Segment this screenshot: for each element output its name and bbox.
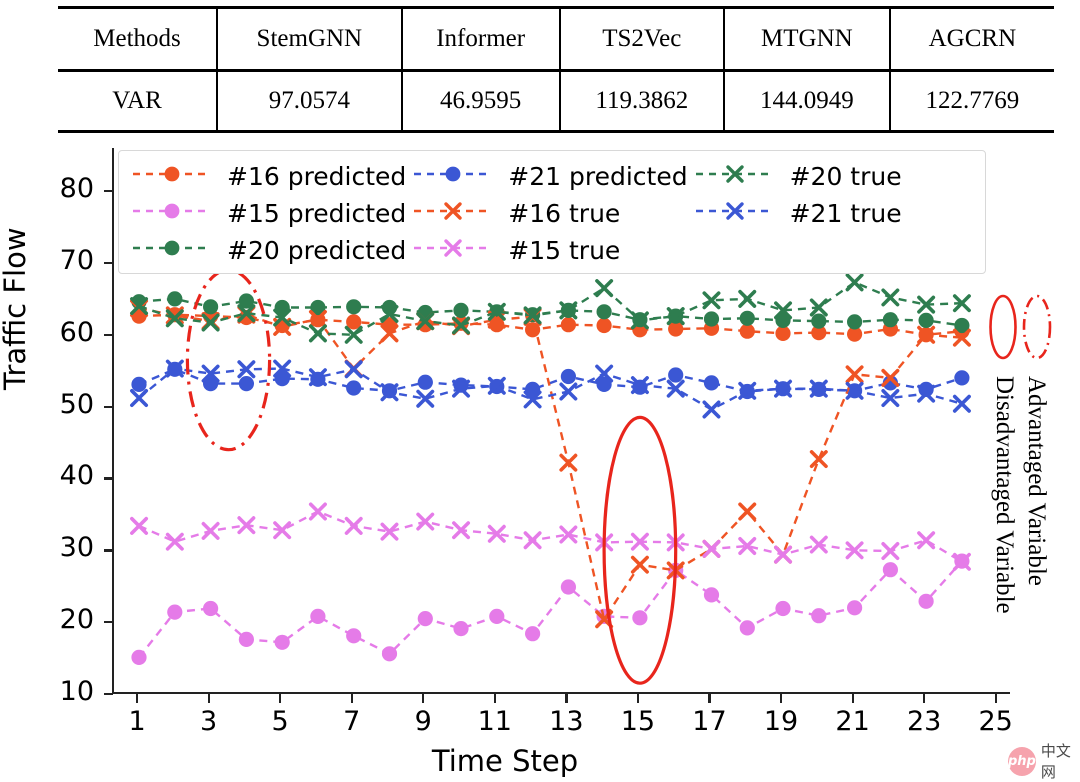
x-tick-mark <box>422 694 424 703</box>
data-point <box>954 370 969 385</box>
legend-key--20-predicted <box>127 232 217 269</box>
legend-empty <box>690 232 780 269</box>
legend-marker-icon <box>410 159 496 189</box>
data-point <box>418 514 432 528</box>
watermark: php 中文网 <box>1008 740 1080 782</box>
data-point <box>203 299 218 314</box>
legend-marker-icon <box>410 196 496 226</box>
data-point <box>704 542 718 556</box>
series--21-true <box>132 361 969 416</box>
x-tick-label: 5 <box>257 706 303 737</box>
data-point <box>346 628 361 643</box>
series-line <box>139 315 962 335</box>
series-line <box>139 308 962 619</box>
data-point <box>775 601 790 616</box>
data-point <box>847 600 862 615</box>
data-point <box>597 281 611 295</box>
data-point <box>239 632 254 647</box>
data-point <box>275 635 290 650</box>
data-point <box>453 303 468 318</box>
legend-label: #21 predicted <box>498 158 689 195</box>
x-tick-label: 15 <box>615 706 661 737</box>
series--20-true <box>132 275 969 342</box>
series--16-true <box>132 301 969 626</box>
x-tick-mark <box>852 694 854 703</box>
data-point <box>883 290 897 304</box>
data-point <box>310 609 325 624</box>
y-tick-label: 10 <box>24 676 94 707</box>
x-tick-label: 1 <box>114 706 160 737</box>
watermark-text: 中文网 <box>1041 740 1080 782</box>
php-logo-icon: php <box>1008 747 1036 776</box>
data-point <box>740 311 755 326</box>
x-tick-label: 11 <box>472 706 518 737</box>
table-cell: 144.0949 <box>724 71 890 132</box>
y-tick-label: 70 <box>24 245 94 276</box>
x-tick-label: 21 <box>830 706 876 737</box>
x-tick-mark <box>780 694 782 703</box>
data-point <box>131 650 146 665</box>
legend-marker-icon <box>692 159 778 189</box>
label-advantaged-variable: Advantaged Variable <box>1022 376 1050 586</box>
data-point <box>597 304 612 319</box>
data-point <box>740 620 755 635</box>
data-point <box>346 380 361 395</box>
highlight-ellipse-advantaged <box>187 270 269 450</box>
data-point <box>525 626 540 641</box>
legend-key--21-true <box>690 195 780 232</box>
legend-key--16-true <box>408 195 498 232</box>
data-point <box>704 587 719 602</box>
x-tick-label: 17 <box>686 706 732 737</box>
legend-label: #15 predicted <box>217 195 408 232</box>
legend-row: #16 predicted#21 predicted#20 true <box>127 158 904 195</box>
data-point <box>919 594 934 609</box>
table-header-cell: MTGNN <box>724 8 890 71</box>
table-header-cell: Informer <box>402 8 560 71</box>
data-point <box>382 646 397 661</box>
series-line <box>139 561 962 657</box>
data-point <box>561 579 576 594</box>
data-point <box>239 376 254 391</box>
series--16-predicted <box>131 307 969 342</box>
x-tick-mark <box>136 694 138 703</box>
x-tick-label: 23 <box>901 706 947 737</box>
series-line <box>139 512 962 562</box>
y-tick-label: 80 <box>24 173 94 204</box>
y-tick-label: 40 <box>24 460 94 491</box>
legend-marker-icon <box>410 233 496 263</box>
table-cell: 97.0574 <box>217 71 402 132</box>
data-point <box>847 275 861 289</box>
data-point <box>597 318 612 333</box>
data-point <box>132 519 146 533</box>
x-tick-label: 7 <box>329 706 375 737</box>
x-tick-mark <box>208 694 210 703</box>
data-point <box>955 397 969 411</box>
x-tick-mark <box>351 694 353 703</box>
x-tick-label: 13 <box>543 706 589 737</box>
legend: #16 predicted#21 predicted#20 true#15 pr… <box>118 150 986 274</box>
table-cell: 46.9595 <box>402 71 560 132</box>
data-point <box>704 311 719 326</box>
legend-row: #20 predicted#15 true <box>127 232 904 269</box>
x-tick-mark <box>923 694 925 703</box>
x-tick-label: 25 <box>973 706 1019 737</box>
data-point <box>919 313 934 328</box>
data-point <box>203 524 217 538</box>
series--15-predicted <box>131 554 969 666</box>
x-tick-label: 9 <box>400 706 446 737</box>
data-point <box>811 314 826 329</box>
data-point <box>561 455 575 469</box>
data-point <box>168 534 182 548</box>
table-header-cell: TS2Vec <box>560 8 724 71</box>
data-point <box>131 377 146 392</box>
table-header-cell: AGCRN <box>890 8 1054 71</box>
legend-key--21-predicted <box>408 158 498 195</box>
legend-label: #21 true <box>780 195 904 232</box>
legend-marker-icon <box>129 159 215 189</box>
legend-label: #16 true <box>498 195 689 232</box>
legend-label: #20 predicted <box>217 232 408 269</box>
legend-marker-icon <box>129 233 215 263</box>
data-point <box>311 326 325 340</box>
x-tick-mark <box>708 694 710 703</box>
legend-key--15-true <box>408 232 498 269</box>
y-tick-label: 60 <box>24 317 94 348</box>
data-point <box>883 544 897 558</box>
legend-key--20-true <box>690 158 780 195</box>
legend-label: #20 true <box>780 158 904 195</box>
data-point <box>632 610 647 625</box>
label-disadvantaged-variable: Disadvantaged Variable <box>990 376 1018 614</box>
legend-label: #15 true <box>498 232 689 269</box>
x-tick-label: 3 <box>186 706 232 737</box>
x-tick-mark <box>637 694 639 703</box>
legend-empty <box>780 232 904 269</box>
highlight-ellipse-disadvantaged <box>604 417 676 683</box>
legend-row: #15 predicted#16 true#21 true <box>127 195 904 232</box>
data-point <box>668 367 683 382</box>
data-point <box>561 317 576 332</box>
data-point <box>919 533 933 547</box>
data-point <box>740 292 754 306</box>
table-row: VAR97.057446.9595119.3862144.0949122.776… <box>58 71 1054 132</box>
legend-label: #16 predicted <box>217 158 408 195</box>
legend-key--16-predicted <box>127 158 217 195</box>
table-header-cell: StemGNN <box>217 8 402 71</box>
results-table: MethodsStemGNNInformerTS2VecMTGNNAGCRNVA… <box>58 6 1054 133</box>
x-tick-mark <box>279 694 281 703</box>
x-tick-mark <box>494 694 496 703</box>
y-tick-label: 30 <box>24 532 94 563</box>
data-point <box>704 402 718 416</box>
data-point <box>883 312 898 327</box>
data-point <box>525 533 539 547</box>
data-point <box>167 605 182 620</box>
table-cell: VAR <box>58 71 217 132</box>
data-point <box>811 608 826 623</box>
x-axis-title: Time Step <box>0 744 1010 778</box>
data-point <box>812 452 826 466</box>
data-point <box>167 291 182 306</box>
x-tick-mark <box>565 694 567 703</box>
data-point <box>347 519 361 533</box>
data-point <box>346 299 361 314</box>
data-point <box>418 375 433 390</box>
data-point <box>561 369 576 384</box>
data-point <box>883 562 898 577</box>
table-header-row: MethodsStemGNNInformerTS2VecMTGNNAGCRN <box>58 8 1054 71</box>
data-point <box>311 504 325 518</box>
data-point <box>740 504 754 518</box>
data-point <box>847 367 861 381</box>
table-cell: 119.3862 <box>560 71 724 132</box>
series-line <box>139 369 962 391</box>
table-cell: 122.7769 <box>890 71 1054 132</box>
solid-red-ellipse <box>986 292 1020 362</box>
y-tick-label: 20 <box>24 604 94 635</box>
data-point <box>775 326 790 341</box>
legend-key--15-predicted <box>127 195 217 232</box>
data-point <box>418 611 433 626</box>
traffic-flow-chart: Traffic Flow 1020304050607080 1357911131… <box>0 140 1080 780</box>
data-point <box>132 391 146 405</box>
series--15-true <box>132 504 969 569</box>
data-point <box>489 609 504 624</box>
data-point <box>347 362 361 376</box>
data-point <box>203 601 218 616</box>
data-point <box>633 557 647 571</box>
dashdot-red-ellipse <box>1018 292 1056 362</box>
x-tick-mark <box>995 694 997 703</box>
x-tick-label: 19 <box>758 706 804 737</box>
data-point <box>847 314 862 329</box>
legend-marker-icon <box>692 196 778 226</box>
table-header-cell: Methods <box>58 8 217 71</box>
data-point <box>453 621 468 636</box>
y-tick-label: 50 <box>24 389 94 420</box>
data-point <box>704 375 719 390</box>
legend-marker-icon <box>129 196 215 226</box>
